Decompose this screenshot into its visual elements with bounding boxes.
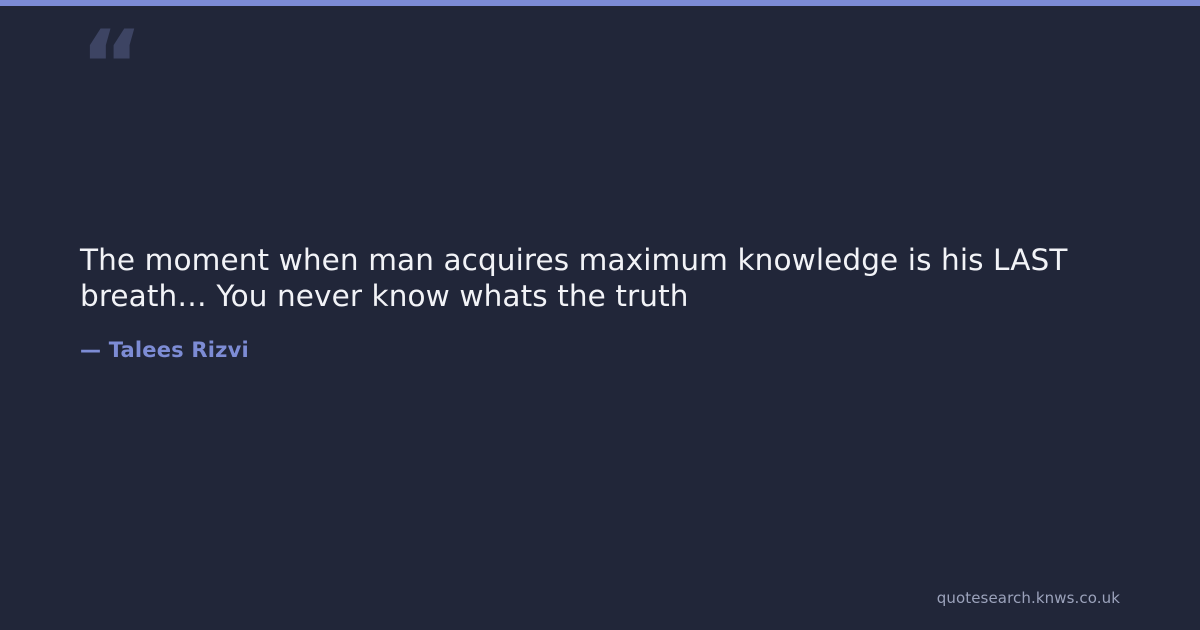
top-accent-bar [0,0,1200,6]
footer-source-url: quotesearch.knws.co.uk [937,589,1120,608]
open-quote-icon: “ [80,18,141,114]
quote-block: The moment when man acquires maximum kno… [80,242,1120,363]
quote-attribution: — Talees Rizvi [80,337,1120,363]
quote-card: “ The moment when man acquires maximum k… [0,0,1200,630]
quote-text: The moment when man acquires maximum kno… [80,242,1120,314]
